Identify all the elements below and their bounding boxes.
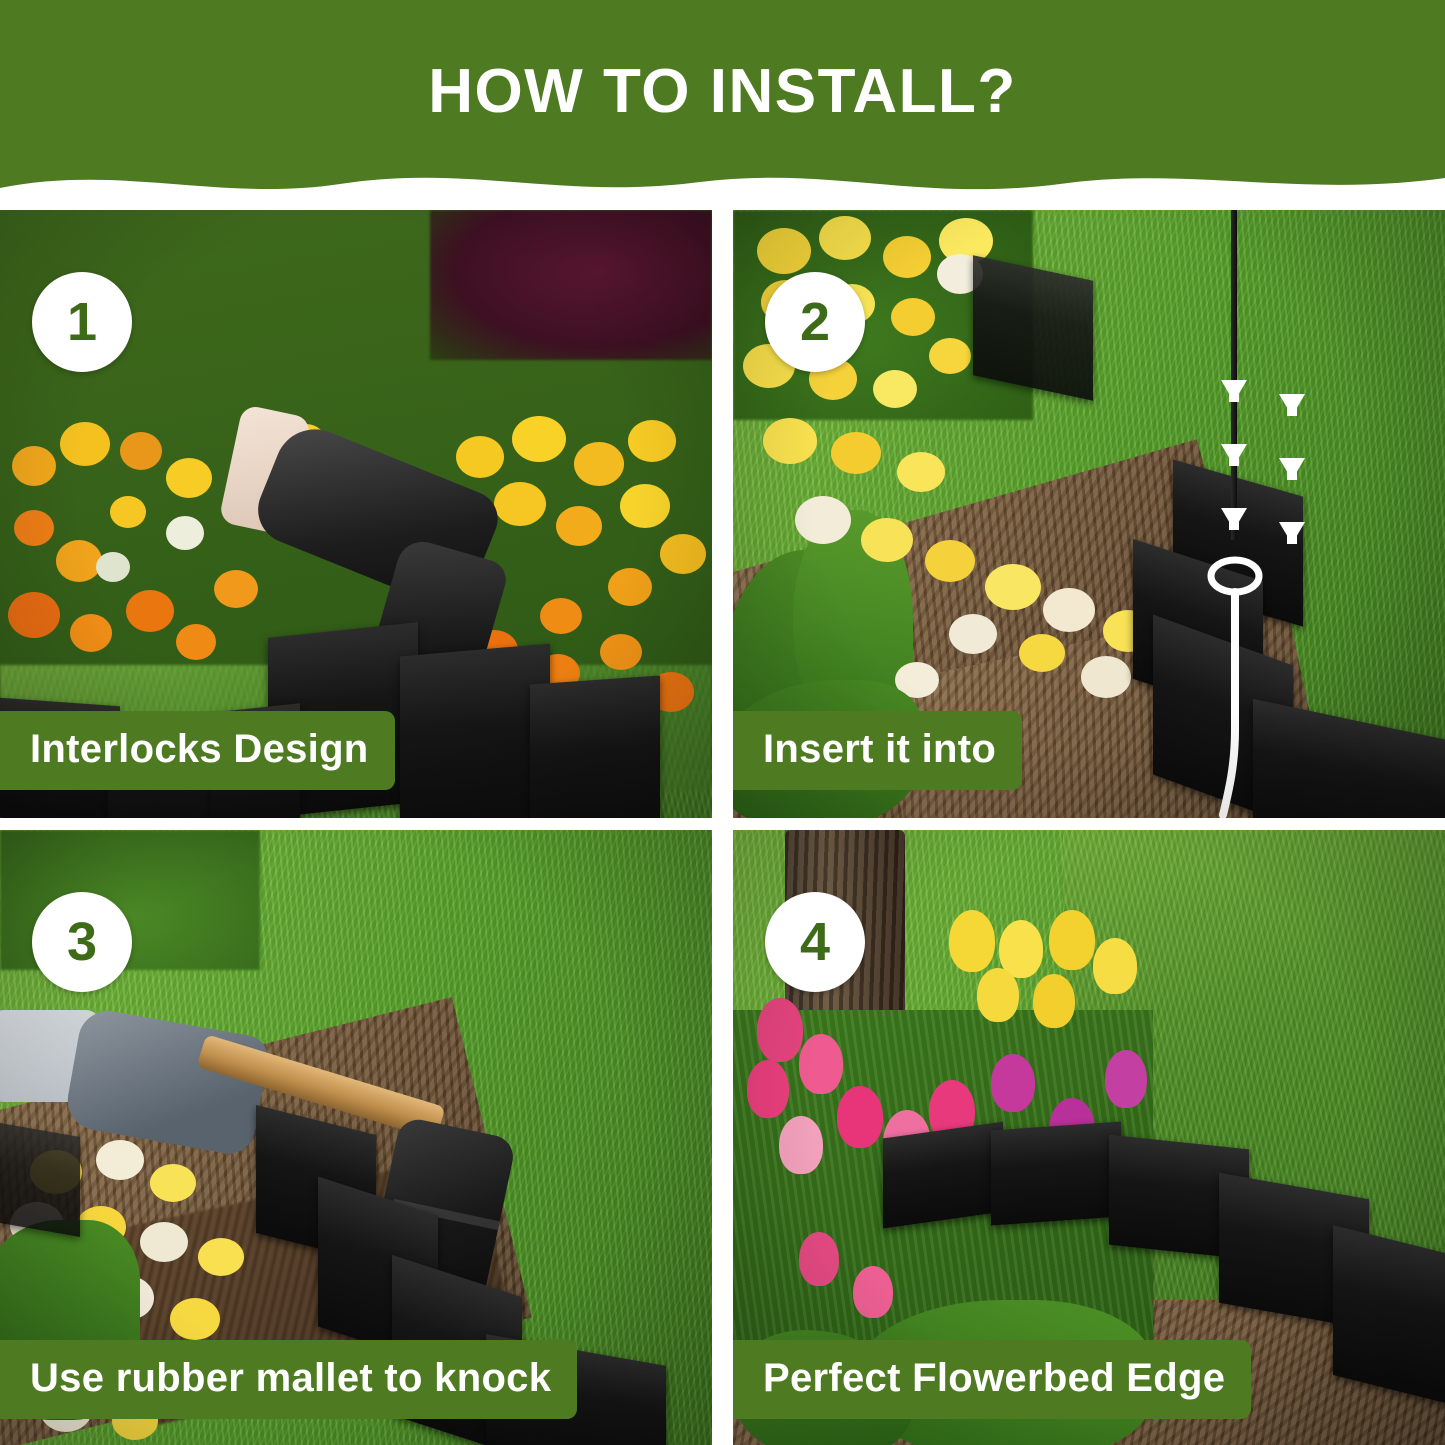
ground-stake-icon (1183, 540, 1293, 818)
insert-arrows (1199, 380, 1319, 560)
edging-4e (1333, 1225, 1445, 1405)
step-panel-1: 1 Interlocks Design (0, 210, 712, 818)
edging-3e (0, 1123, 80, 1237)
step-caption-3: Use rubber mallet to knock (0, 1340, 577, 1419)
edging-4a (883, 1122, 1003, 1229)
step-badge-1: 1 (32, 272, 132, 372)
step-caption-1: Interlocks Design (0, 711, 395, 790)
step-badge-3: 3 (32, 892, 132, 992)
edging-panel-held-b (400, 643, 550, 818)
step-badge-4: 4 (765, 892, 865, 992)
step-panel-2: 2 Insert it into (733, 210, 1445, 818)
edging-segment-far (973, 255, 1093, 401)
step-badge-2: 2 (765, 272, 865, 372)
step-panel-3: 3 Use rubber mallet to knock (0, 830, 712, 1445)
header-wave-divider (0, 162, 1445, 200)
step-caption-2: Insert it into (733, 711, 1022, 790)
edging-4b (991, 1121, 1121, 1225)
header-banner: HOW TO INSTALL? (0, 0, 1445, 200)
step-caption-4: Perfect Flowerbed Edge (733, 1340, 1251, 1419)
poster-root: HOW TO INSTALL? (0, 0, 1445, 1445)
edging-panel-held-c (530, 675, 660, 818)
steps-grid: 1 Interlocks Design (0, 200, 1445, 1445)
step-panel-4: 4 Perfect Flowerbed Edge (733, 830, 1445, 1445)
page-title: HOW TO INSTALL? (0, 56, 1445, 127)
